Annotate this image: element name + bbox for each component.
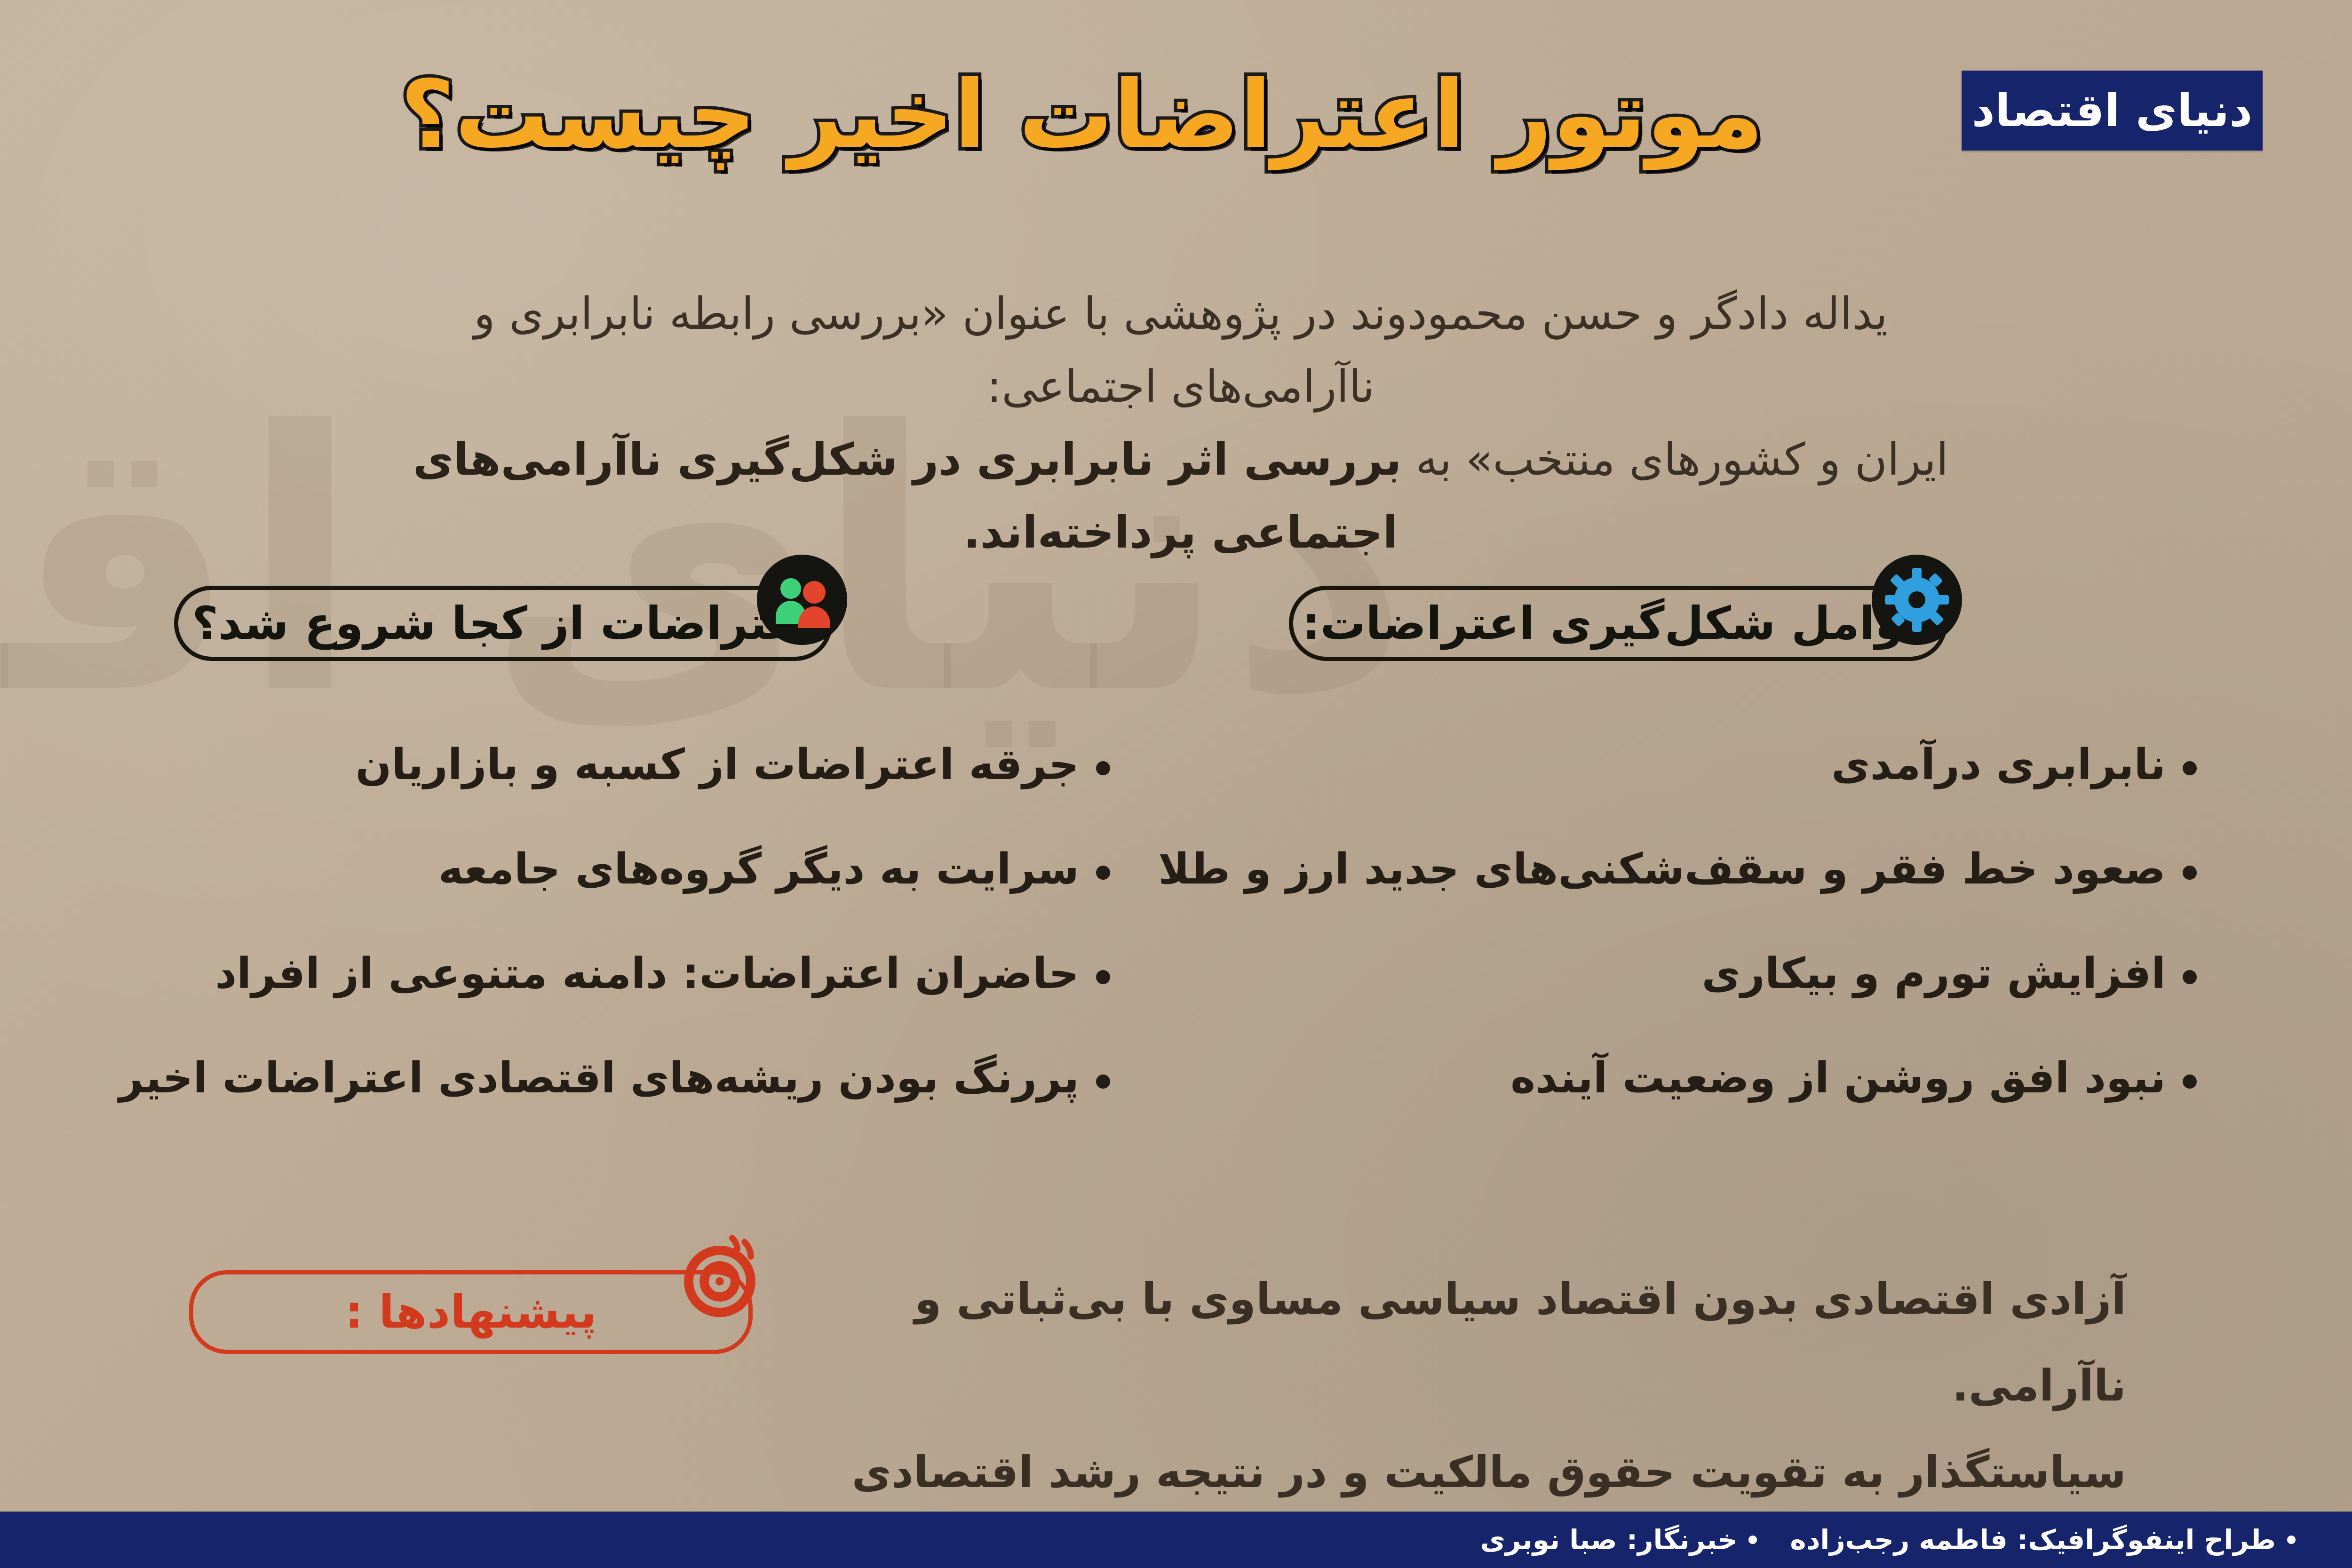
section-header-factors-label: عوامل شکل‌گیری اعتراضات:	[1302, 597, 1934, 650]
section-header-origin-label: اعتراضات از کجا شروع شد؟	[192, 597, 814, 650]
footer-credit-reporter-label: خبرنگار: صبا نوبری	[1480, 1524, 1737, 1556]
bullet-dot-icon	[1096, 761, 1110, 775]
brand-logo-label: دنیای اقتصاد	[1972, 84, 2253, 137]
people-icon	[755, 553, 849, 647]
bullet-dot-icon	[1096, 970, 1110, 984]
bullet-dot-icon	[1096, 1075, 1110, 1089]
bullet-label: نابرابری درآمدی	[1831, 739, 2166, 792]
bullet-label: پررنگ بودن ریشه‌های اقتصادی اعتراضات اخی…	[119, 1052, 1079, 1105]
footer-credit-designer: طراح اینفوگرافیک: فاطمه رجب‌زاده	[1790, 1524, 2296, 1556]
bullet-dot-icon	[2183, 761, 2197, 775]
intro-line-2-plain: ایران و کشورهای منتخب» به	[1402, 434, 1949, 486]
intro-line-2-bold: بررسی اثر نابرابری در شکل‌گیری ناآرامی‌ه…	[413, 434, 1402, 558]
intro-line-1: یداله دادگر و حسن محمودوند در پژوهشی با …	[474, 288, 1888, 413]
intro-paragraph: یداله دادگر و حسن محمودوند در پژوهشی با …	[367, 278, 1994, 569]
footer-credit-reporter: خبرنگار: صبا نوبری	[1480, 1524, 1757, 1556]
bullet-list-origin: جرقه اعتراضات از کسبه و بازاریان سرایت ب…	[169, 739, 1110, 1156]
brand-logo: دنیای اقتصاد	[1962, 71, 2263, 151]
bullet-dot-icon	[2287, 1536, 2296, 1544]
bullet-label: سرایت به دیگر گروه‌های جامعه	[438, 843, 1079, 896]
list-item: پررنگ بودن ریشه‌های اقتصادی اعتراضات اخی…	[169, 1052, 1110, 1104]
section-header-origin: اعتراضات از کجا شروع شد؟	[174, 586, 833, 661]
bullet-label: نبود افق روشن از وضعیت آینده	[1510, 1052, 2166, 1105]
list-item: نبود افق روشن از وضعیت آینده	[1256, 1052, 2197, 1104]
bullet-label: حاضران اعتراضات: دامنه متنوعی از افراد	[215, 947, 1079, 1001]
bullet-dot-icon	[2183, 970, 2197, 984]
bullet-list-factors: نابرابری درآمدی صعود خط فقر و سقف‌شکنی‌ه…	[1256, 739, 2197, 1156]
bullet-dot-icon	[2183, 1075, 2197, 1089]
infographic-poster: دنیای اقتصاد دنیای اقتصاد موتور اعتراضات…	[0, 0, 2352, 1568]
list-item: جرقه اعتراضات از کسبه و بازاریان	[169, 739, 1110, 790]
suggestion-line: آزادی اقتصادی بدون اقتصاد سیاسی مساوی با…	[800, 1256, 2126, 1429]
bullet-dot-icon	[1096, 866, 1110, 880]
footer-credit-designer-label: طراح اینفوگرافیک: فاطمه رجب‌زاده	[1790, 1524, 2276, 1556]
list-item: صعود خط فقر و سقف‌شکنی‌های جدید ارز و طل…	[1256, 843, 2197, 895]
list-item: افزایش تورم و بیکاری	[1256, 947, 2197, 999]
bullet-label: افزایش تورم و بیکاری	[1701, 947, 2166, 1001]
target-icon	[668, 1226, 771, 1329]
page-title: موتور اعتراضات اخیر چیست؟	[235, 56, 1929, 174]
list-item: نابرابری درآمدی	[1256, 739, 2197, 790]
footer-credits-bar: طراح اینفوگرافیک: فاطمه رجب‌زاده خبرنگار…	[0, 1512, 2352, 1568]
suggestions-badge-label: پیشنهادها :	[345, 1286, 596, 1338]
bullet-label: صعود خط فقر و سقف‌شکنی‌های جدید ارز و طل…	[1158, 843, 2166, 896]
list-item: حاضران اعتراضات: دامنه متنوعی از افراد	[169, 947, 1110, 999]
bullet-dot-icon	[2183, 866, 2197, 880]
gear-icon	[1870, 553, 1964, 647]
bullet-dot-icon	[1748, 1536, 1757, 1544]
section-header-factors: عوامل شکل‌گیری اعتراضات:	[1289, 586, 1947, 661]
list-item: سرایت به دیگر گروه‌های جامعه	[169, 843, 1110, 895]
bullet-label: جرقه اعتراضات از کسبه و بازاریان	[356, 739, 1079, 792]
